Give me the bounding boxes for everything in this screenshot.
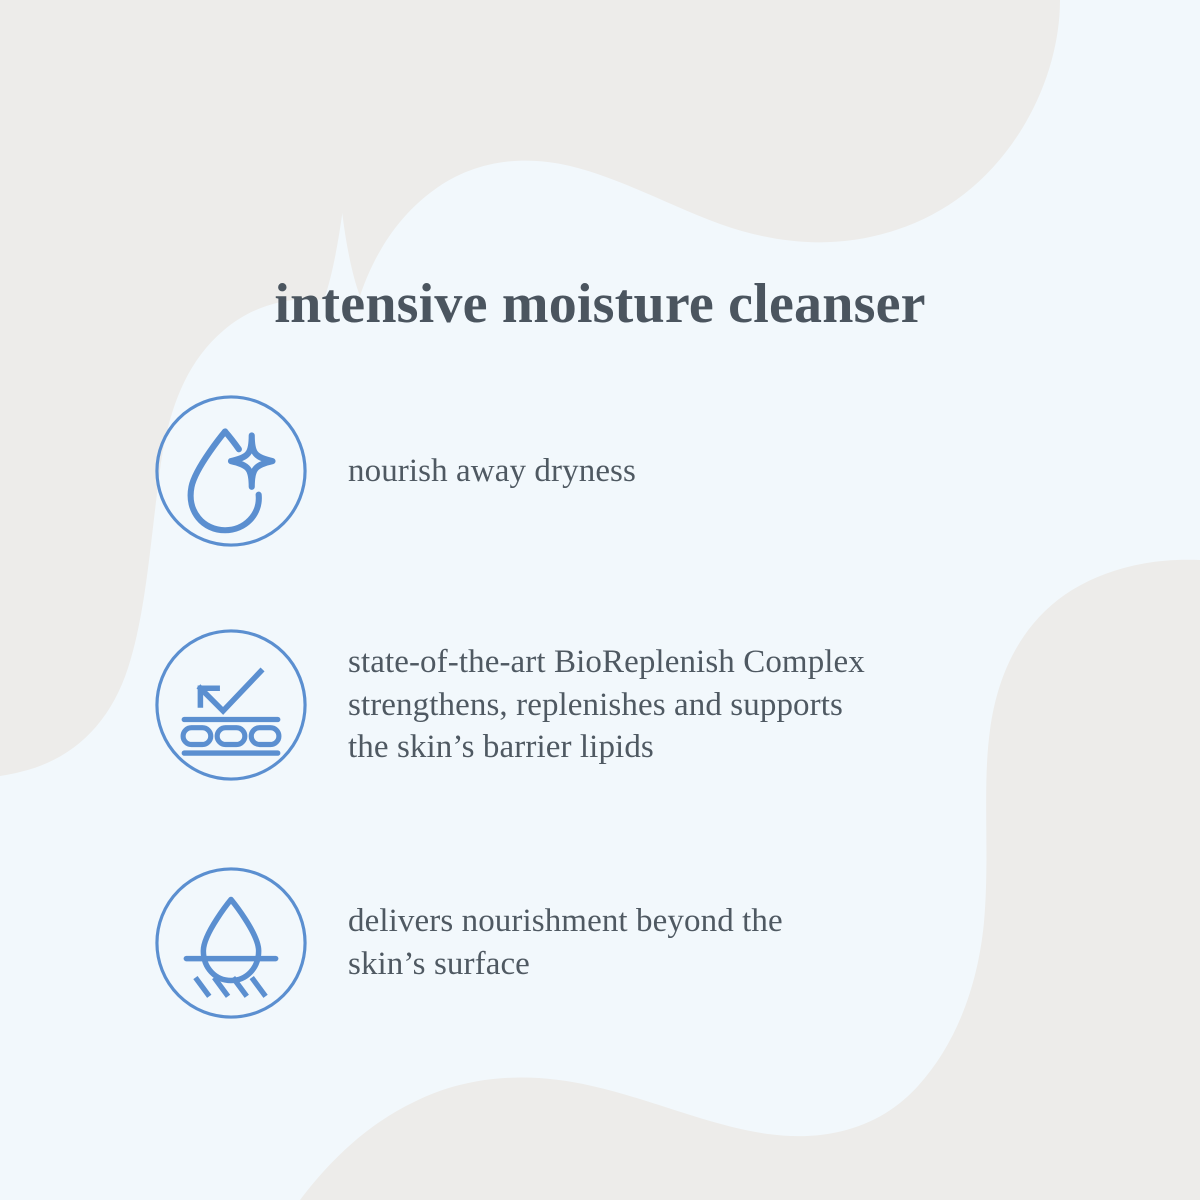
barrier-deflect-icon [152, 626, 310, 784]
penetration-dash-4 [252, 978, 266, 997]
penetration-dash-1 [195, 978, 209, 997]
droplet-penetration-icon [152, 864, 310, 1022]
droplet-sparkle-icon [152, 392, 310, 550]
barrier-lipid-1 [183, 728, 211, 745]
icon-circle-outline [157, 869, 305, 1017]
barrier-top-bar [182, 717, 281, 722]
card-content: intensive moisture cleanser nourish away… [0, 0, 1200, 1200]
feature-item-barrier: state-of-the-art BioReplenish Complex st… [152, 626, 865, 784]
feature-list: nourish away dryness state-of-t [0, 0, 1200, 1200]
barrier-lipid-2 [217, 728, 245, 745]
feature-text: state-of-the-art BioReplenish Complex st… [348, 641, 865, 770]
product-benefits-card: intensive moisture cleanser nourish away… [0, 0, 1200, 1200]
icon-circle-outline [157, 397, 305, 545]
feature-item-nourish: nourish away dryness [152, 392, 636, 550]
surface-line [184, 956, 279, 962]
feature-text: nourish away dryness [348, 450, 636, 493]
barrier-lipid-3 [251, 728, 279, 745]
deflect-arrow-path [200, 671, 260, 711]
droplet-shape [203, 900, 258, 981]
droplet-shape-upper-right [225, 432, 239, 450]
feature-item-delivery: delivers nourishment beyond the skin’s s… [152, 864, 783, 1022]
feature-text: delivers nourishment beyond the skin’s s… [348, 900, 783, 986]
barrier-bottom-bar [182, 750, 281, 755]
